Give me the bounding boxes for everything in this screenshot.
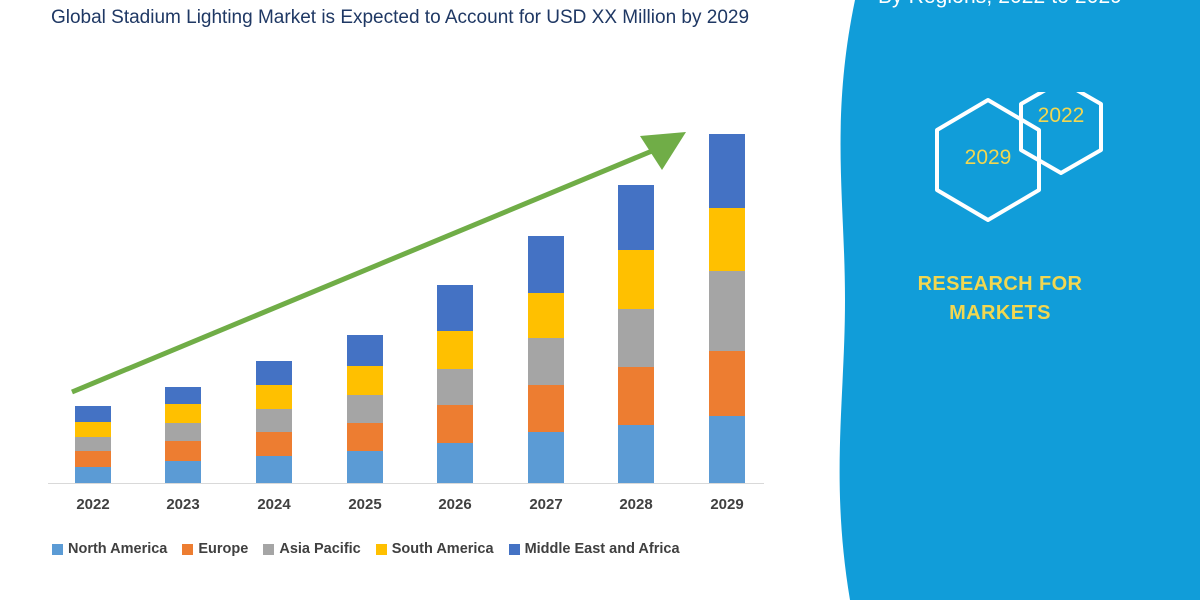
x-axis-label-2023: 2023 [143,496,223,513]
bar-segment-asia-pacific-2022[interactable] [75,437,111,451]
bar-segment-north-america-2023[interactable] [165,461,201,483]
x-axis-label-2026: 2026 [415,496,495,513]
stacked-bar-plot: 20222023202420252026202720282029 [0,0,800,600]
legend-item-north-america[interactable]: North America [52,541,167,557]
bar-segment-middle-east-and-africa-2028[interactable] [618,185,654,250]
bar-2024[interactable] [256,361,292,483]
bar-segment-europe-2025[interactable] [347,423,383,451]
bar-segment-south-america-2022[interactable] [75,422,111,437]
legend-item-middle-east-and-africa[interactable]: Middle East and Africa [509,541,680,557]
legend-label: Middle East and Africa [525,541,680,557]
bar-segment-north-america-2025[interactable] [347,451,383,483]
panel-title: By Regions, 2022 to 2029 [800,0,1200,10]
bar-segment-middle-east-and-africa-2023[interactable] [165,387,201,404]
bar-segment-asia-pacific-2023[interactable] [165,423,201,441]
bar-segment-south-america-2025[interactable] [347,366,383,395]
brand-line-1: RESEARCH FOR [800,270,1200,299]
x-axis-label-2025: 2025 [325,496,405,513]
hexagon-label-2022: 2022 [1021,104,1101,128]
legend-label: Europe [198,541,248,557]
bar-segment-middle-east-and-africa-2022[interactable] [75,406,111,422]
bar-segment-asia-pacific-2029[interactable] [709,271,745,351]
bar-2025[interactable] [347,335,383,483]
bar-2027[interactable] [528,236,564,483]
hexagon-group: 2029 2022 [800,92,1200,252]
bar-segment-asia-pacific-2025[interactable] [347,395,383,423]
bar-segment-europe-2028[interactable] [618,367,654,425]
legend-swatch-icon [182,544,193,555]
brand-wordmark: RESEARCH FOR MARKETS [800,270,1200,328]
hexagon-label-2029: 2029 [948,146,1028,170]
legend-swatch-icon [509,544,520,555]
bar-segment-south-america-2026[interactable] [437,331,473,369]
x-axis-label-2029: 2029 [687,496,767,513]
legend-item-asia-pacific[interactable]: Asia Pacific [263,541,360,557]
bar-2022[interactable] [75,406,111,483]
bar-2023[interactable] [165,387,201,483]
bar-segment-europe-2022[interactable] [75,451,111,467]
bar-segment-middle-east-and-africa-2026[interactable] [437,285,473,331]
bar-segment-middle-east-and-africa-2029[interactable] [709,134,745,208]
x-axis-label-2028: 2028 [596,496,676,513]
bar-segment-north-america-2022[interactable] [75,467,111,483]
bar-segment-middle-east-and-africa-2027[interactable] [528,236,564,293]
legend-swatch-icon [376,544,387,555]
bar-segment-asia-pacific-2027[interactable] [528,338,564,385]
legend-swatch-icon [52,544,63,555]
infographic-slide: Global Stadium Lighting Market is Expect… [0,0,1200,600]
bar-segment-north-america-2028[interactable] [618,425,654,483]
bar-2028[interactable] [618,185,654,483]
bar-segment-europe-2027[interactable] [528,385,564,432]
bar-segment-europe-2024[interactable] [256,432,292,456]
bar-segment-south-america-2024[interactable] [256,385,292,409]
bar-segment-north-america-2027[interactable] [528,432,564,483]
bar-segment-south-america-2028[interactable] [618,250,654,309]
bar-segment-asia-pacific-2026[interactable] [437,369,473,405]
x-axis-line [48,483,764,484]
x-axis-label-2027: 2027 [506,496,586,513]
bar-segment-europe-2029[interactable] [709,351,745,416]
bar-segment-north-america-2026[interactable] [437,443,473,483]
bar-segment-north-america-2024[interactable] [256,456,292,483]
legend-label: Asia Pacific [279,541,360,557]
bar-segment-europe-2026[interactable] [437,405,473,443]
bar-segment-asia-pacific-2024[interactable] [256,409,292,432]
brand-line-2: MARKETS [800,299,1200,328]
bar-segment-south-america-2029[interactable] [709,208,745,271]
bar-segment-middle-east-and-africa-2024[interactable] [256,361,292,385]
bar-2029[interactable] [709,134,745,483]
bar-segment-north-america-2029[interactable] [709,416,745,483]
branding-panel: By Regions, 2022 to 2029 2029 2022 RESEA… [800,0,1200,600]
bar-segment-south-america-2027[interactable] [528,293,564,338]
chart-legend: North AmericaEuropeAsia PacificSouth Ame… [52,541,782,557]
x-axis-label-2024: 2024 [234,496,314,513]
bar-segment-south-america-2023[interactable] [165,404,201,423]
bar-segment-middle-east-and-africa-2025[interactable] [347,335,383,366]
legend-label: North America [68,541,167,557]
legend-swatch-icon [263,544,274,555]
x-axis-label-2022: 2022 [53,496,133,513]
legend-item-south-america[interactable]: South America [376,541,494,557]
bar-segment-asia-pacific-2028[interactable] [618,309,654,367]
bar-segment-europe-2023[interactable] [165,441,201,461]
chart-area: Global Stadium Lighting Market is Expect… [0,0,800,600]
legend-label: South America [392,541,494,557]
legend-item-europe[interactable]: Europe [182,541,248,557]
bar-2026[interactable] [437,285,473,483]
